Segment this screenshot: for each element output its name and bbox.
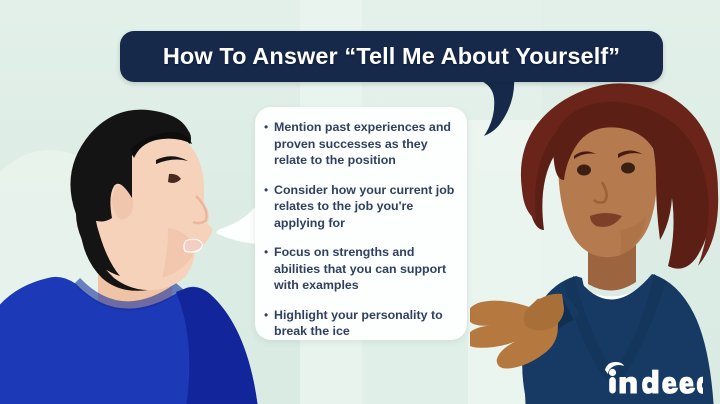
list-item: • Highlight your personality to break th…: [264, 307, 460, 340]
list-item-text: Mention past experiences and proven succ…: [274, 119, 460, 169]
list-item-text: Focus on strengths and abilities that yo…: [274, 244, 460, 294]
poster-canvas: • Mention past experiences and proven su…: [0, 0, 720, 404]
list-item: • Mention past experiences and proven su…: [264, 119, 460, 169]
title-speech-tail: [470, 76, 530, 138]
list-item: • Focus on strengths and abilities that …: [264, 244, 460, 294]
bullet-marker-icon: •: [264, 182, 274, 199]
list-item-text: Highlight your personality to break the …: [274, 307, 460, 340]
tips-bullet-list: • Mention past experiences and proven su…: [264, 119, 460, 340]
page-title: How To Answer “Tell Me About Yourself”: [163, 43, 620, 70]
list-item-text: Consider how your current job relates to…: [274, 182, 460, 232]
indeed-logo: [603, 361, 703, 395]
bullet-marker-icon: •: [264, 307, 274, 324]
list-item: • Consider how your current job relates …: [264, 182, 460, 232]
bullet-marker-icon: •: [264, 244, 274, 261]
title-banner: How To Answer “Tell Me About Yourself”: [120, 31, 663, 82]
bullet-marker-icon: •: [264, 119, 274, 136]
